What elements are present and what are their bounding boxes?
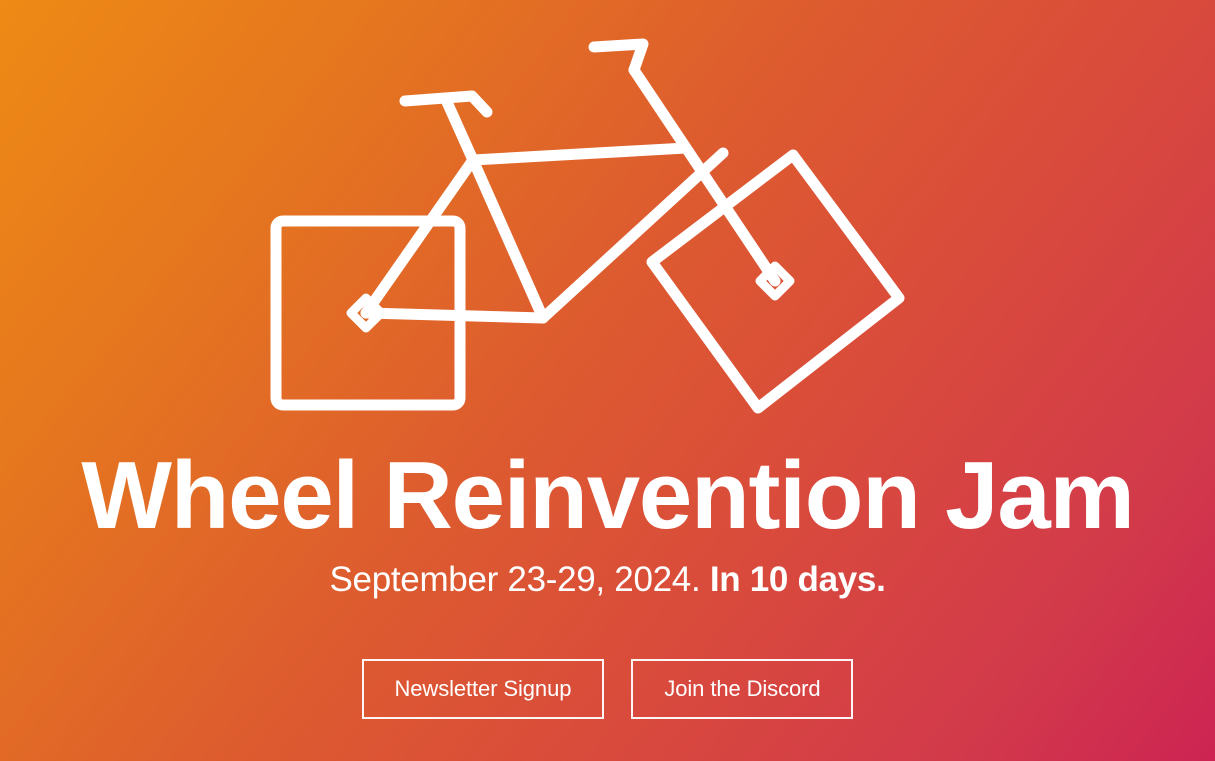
fork [366,160,473,313]
bicycle-svg [0,0,1215,440]
top-tube [473,148,686,160]
event-dates: September 23-29, 2024. [329,560,700,599]
saddle-icon [594,44,643,70]
front-hub-icon [351,298,381,328]
chain-stay [366,313,543,318]
seat-tube [634,70,775,281]
handlebar-icon [405,96,487,112]
steerer-tube [447,102,473,160]
join-discord-button[interactable]: Join the Discord [631,659,853,719]
newsletter-signup-button[interactable]: Newsletter Signup [362,659,605,719]
seat-stay [543,153,723,318]
down-tube [473,160,543,318]
rear-hub-icon [760,266,790,296]
square-wheel-bicycle-logo [0,0,1215,440]
hero-page: Wheel Reinvention Jam September 23-29, 2… [0,0,1215,761]
rear-square-wheel-icon [652,155,899,408]
cta-button-row: Newsletter Signup Join the Discord [0,659,1215,719]
event-countdown: In 10 days. [710,560,886,599]
event-dates-line: September 23-29, 2024. In 10 days. [0,560,1215,600]
front-square-wheel-icon [276,221,460,405]
page-title: Wheel Reinvention Jam [0,448,1215,544]
